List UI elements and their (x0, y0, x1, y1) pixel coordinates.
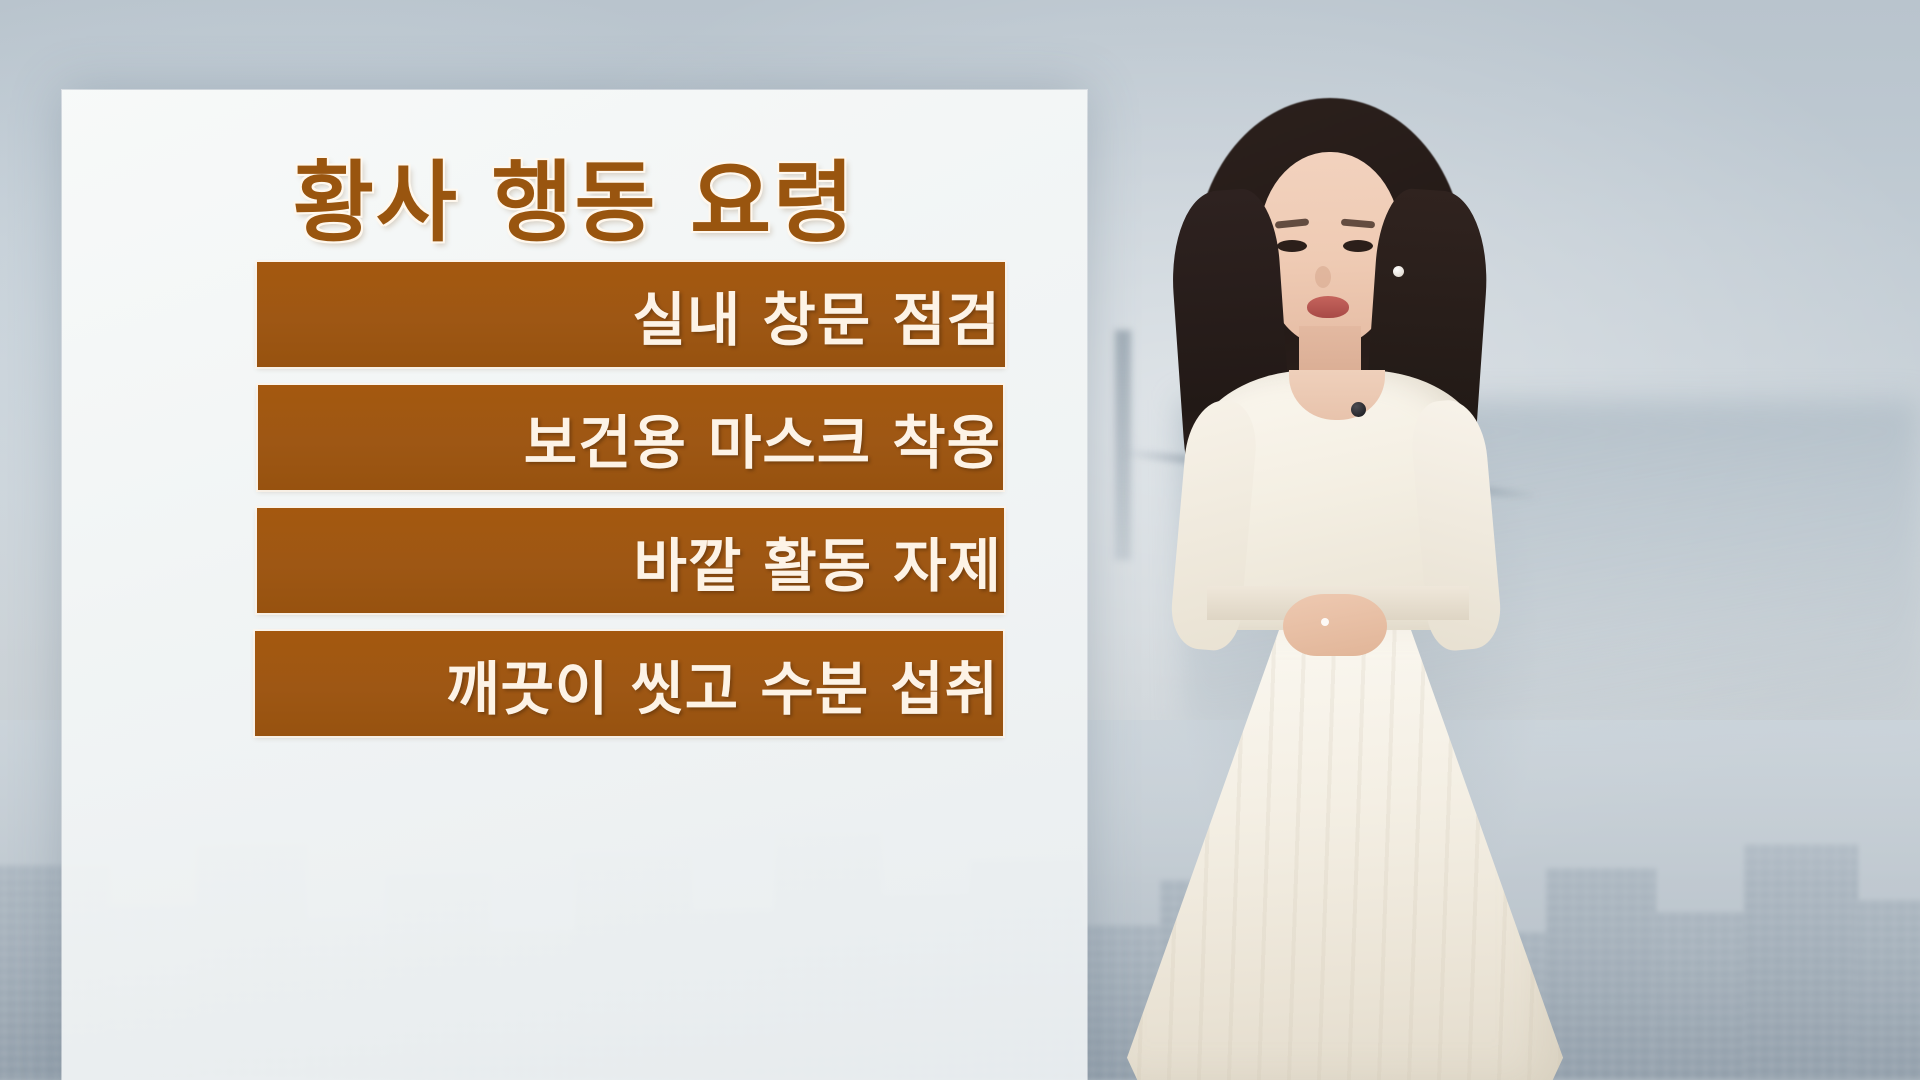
list-item: 보건용 마스크 착용 (258, 385, 1003, 490)
list-item: 바깥 활동 자제 (257, 508, 1004, 613)
action-list: 실내 창문 점검 보건용 마스크 착용 바깥 활동 자제 깨끗이 씻고 수분 섭… (62, 262, 1087, 754)
presenter-earring (1393, 266, 1404, 277)
presenter-ring (1321, 618, 1329, 626)
presenter-eye-left (1277, 240, 1307, 252)
page-title: 황사 행동 요령 (62, 132, 1087, 259)
presenter-skirt-folds (1127, 616, 1563, 1080)
presenter-hands (1283, 594, 1387, 656)
info-panel: 황사 행동 요령 실내 창문 점검 보건용 마스크 착용 바깥 활동 자제 깨끗… (62, 90, 1087, 1080)
list-item: 실내 창문 점검 (257, 262, 1005, 367)
list-item-label: 깨끗이 씻고 수분 섭취 (446, 642, 1003, 726)
broadcast-graphic: 황사 행동 요령 실내 창문 점검 보건용 마스크 착용 바깥 활동 자제 깨끗… (0, 0, 1920, 1080)
list-item-label: 바깥 활동 자제 (633, 519, 1004, 603)
list-item: 깨끗이 씻고 수분 섭취 (255, 631, 1003, 736)
presenter-figure (1075, 70, 1635, 1080)
list-item-label: 실내 창문 점검 (632, 273, 1005, 357)
presenter-nose (1315, 266, 1331, 288)
list-item-label: 보건용 마스크 착용 (524, 396, 1003, 480)
microphone-icon (1351, 402, 1366, 417)
presenter-mouth (1307, 296, 1349, 318)
presenter-eye-right (1343, 240, 1373, 252)
